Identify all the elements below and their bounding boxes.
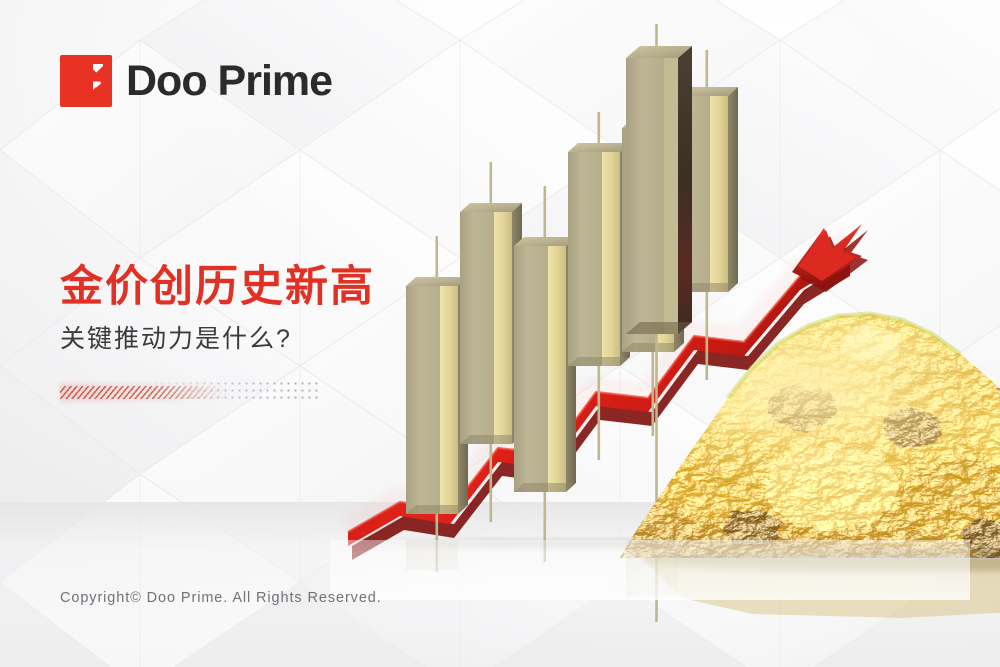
decorative-divider <box>60 380 320 404</box>
copyright-text: Copyright© Doo Prime. All Rights Reserve… <box>60 590 382 606</box>
brand-wordmark: Doo Prime <box>126 60 332 103</box>
dot-grid-icon <box>138 380 320 402</box>
doo-prime-flag-mark-icon <box>60 55 112 107</box>
page-title: 金价创历史新高 <box>60 265 440 310</box>
promo-banner: Doo Prime 金价创历史新高 关键推动力是什么? Copyright© D… <box>0 0 1000 667</box>
page-subtitle: 关键推动力是什么? <box>60 324 440 354</box>
candle-3 <box>514 186 576 562</box>
headline-block: 金价创历史新高 关键推动力是什么? <box>60 265 440 404</box>
brand-logo[interactable]: Doo Prime <box>60 55 332 107</box>
